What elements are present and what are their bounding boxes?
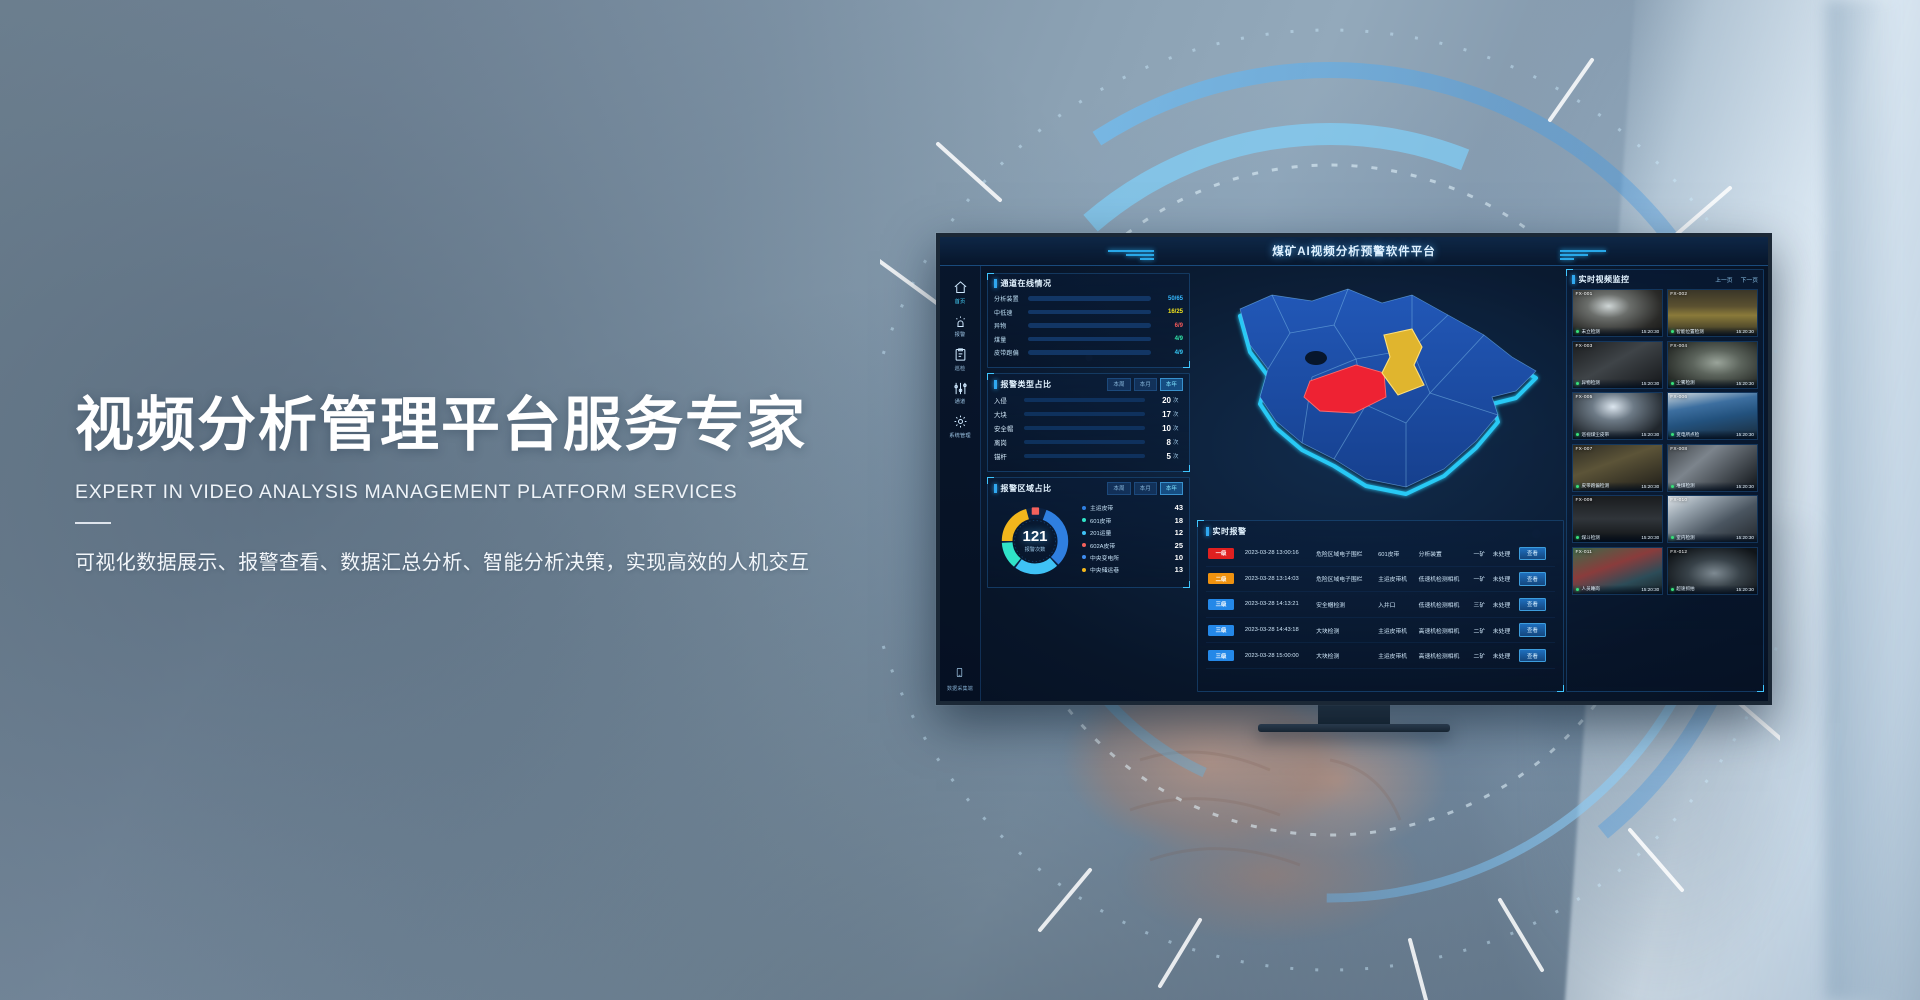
cell-time: 2023-03-28 14:43:18 (1243, 617, 1314, 643)
legend-item: 602A皮带 25 (1082, 541, 1183, 550)
cell-action: 查看 (1517, 566, 1555, 592)
video-name: 室内检测 (1671, 535, 1695, 541)
alarm-type-unit: 次 (1171, 410, 1183, 418)
alarm-type-label: 安全帽 (994, 424, 1024, 433)
donut-legend: 主运皮带 43 601皮带 18 201运量 12 (1082, 503, 1183, 577)
channel-row-track (1028, 296, 1151, 301)
video-name: 人员睡岗 (1576, 586, 1600, 592)
video-time: 15:20:30 (1641, 432, 1659, 437)
channel-row-value: 50/65 (1151, 296, 1183, 302)
legend-value: 13 (1165, 565, 1183, 574)
page-description: 可视化数据展示、报警查看、数据汇总分析、智能分析决策，实现高效的人机交互 (75, 546, 955, 575)
channel-row-track (1028, 337, 1151, 342)
status-dot (1576, 536, 1579, 539)
status-dot (1576, 485, 1579, 488)
channel-row-label: 皮带跑偏 (994, 348, 1028, 357)
channel-panel-title-text: 通道在线情况 (1001, 278, 1052, 289)
channel-row-value: 16/25 (1151, 309, 1183, 315)
sidebar-footer[interactable]: 数据采集端 (947, 665, 973, 693)
dashboard-sidebar: 首页 报警 巡检 通道 系统管理 (940, 266, 981, 701)
video-cell[interactable]: FX-009 煤斗检测 15:20:30 (1572, 495, 1663, 543)
status-dot (1671, 536, 1674, 539)
page-title: 视频分析管理平台服务专家 (75, 392, 955, 458)
cell-action: 查看 (1517, 643, 1555, 669)
divider-rule (75, 522, 111, 524)
channel-row-label: 中低速 (994, 308, 1028, 317)
video-caption: 变电所点检 15:20:30 (1668, 430, 1757, 439)
video-code: FX-007 (1576, 447, 1593, 452)
video-cell[interactable]: FX-004 尘雾检测 15:20:30 (1667, 341, 1758, 389)
cell-status: 未处理 (1491, 592, 1517, 618)
alarm-type-row: 入侵 20 次 (994, 396, 1183, 405)
alarm-type-row: 安全帽 10 次 (994, 424, 1183, 433)
legend-item: 中央储运巷 13 (1082, 565, 1183, 574)
dashboard-title: 煤矿AI视频分析预警软件平台 (1272, 243, 1436, 259)
alarm-type-label: 入侵 (994, 396, 1024, 405)
left-panel-column: 通道在线情况 分析装置 50/65 中低速 16/25 异物 6/9 煤量 (981, 269, 1195, 697)
donut-chart: 121 报警次数 (994, 500, 1076, 582)
video-name: 巡视煤尘皮带 (1576, 432, 1609, 438)
header-decoration-left (1108, 250, 1154, 260)
legend-name: 602A皮带 (1090, 541, 1165, 550)
cell-location: 主运皮带机 (1376, 643, 1417, 669)
video-caption: 尘雾检测 15:20:30 (1668, 379, 1757, 388)
donut-total: 121 (1022, 529, 1047, 544)
video-time: 15:20:30 (1641, 587, 1659, 592)
alarm-type-row: 大块 17 次 (994, 410, 1183, 419)
video-cell[interactable]: FX-001 未立检测 15:20:30 (1572, 289, 1663, 337)
cell-level: 三级 (1206, 592, 1243, 618)
video-caption: 超速抓拍 15:20:30 (1668, 585, 1757, 594)
cell-device: 高速机检测相机 (1417, 617, 1472, 643)
legend-dot (1082, 555, 1086, 559)
channel-online-panel: 通道在线情况 分析装置 50/65 中低速 16/25 异物 6/9 煤量 (987, 273, 1190, 368)
sidebar-item-home[interactable]: 首页 (940, 275, 981, 309)
cell-mine: 一矿 (1472, 566, 1491, 592)
view-button[interactable]: 查看 (1519, 649, 1546, 663)
legend-dot (1082, 531, 1086, 535)
video-cell[interactable]: FX-003 异物检测 15:20:30 (1572, 341, 1663, 389)
video-code: FX-012 (1670, 550, 1687, 555)
alarm-type-label: 大块 (994, 410, 1024, 419)
video-pagination: 上一页 下一页 (1715, 275, 1758, 284)
clipboard-check-icon (953, 347, 968, 362)
title-bar-accent (1206, 527, 1209, 536)
legend-name: 201运量 (1090, 528, 1165, 537)
alarm-type-track (1024, 440, 1145, 444)
video-time: 15:20:30 (1641, 381, 1659, 386)
legend-value: 43 (1165, 503, 1183, 512)
legend-name: 中央变电所 (1090, 553, 1165, 562)
tab-week[interactable]: 本周 (1107, 378, 1130, 391)
channel-row-value: 6/9 (1151, 323, 1183, 329)
video-caption: 巡视煤尘皮带 15:20:30 (1573, 430, 1662, 439)
status-badge: 三级 (1208, 625, 1234, 636)
status-dot (1576, 433, 1579, 436)
video-monitor-panel: 实时视频监控 上一页 下一页 FX-001 未立检测 15:20:30 (1566, 269, 1764, 692)
video-code: FX-002 (1670, 292, 1687, 297)
title-bar-accent (1572, 275, 1575, 284)
legend-value: 25 (1165, 541, 1183, 550)
realtime-alarm-title-text: 实时报警 (1213, 526, 1247, 537)
alarm-area-title-text: 报警区域占比 (1001, 483, 1052, 494)
legend-name: 中央储运巷 (1090, 565, 1165, 574)
alarm-type-count: 17 (1145, 410, 1171, 419)
sidebar-label-alarm: 报警 (955, 331, 966, 338)
donut-chart-body: 121 报警次数 主运皮带 43 601皮带 18 (994, 500, 1183, 582)
gear-icon (953, 414, 968, 429)
monitor-frame: 煤矿AI视频分析预警软件平台 首页 报警 巡检 (936, 233, 1772, 705)
legend-name: 主运皮带 (1090, 503, 1165, 512)
sliders-icon (953, 381, 968, 396)
cell-status: 未处理 (1491, 617, 1517, 643)
alarm-lamp-icon (953, 314, 968, 329)
cell-status: 未处理 (1491, 541, 1517, 566)
video-time: 15:20:30 (1736, 432, 1754, 437)
alarm-type-row: 锚杆 5 次 (994, 452, 1183, 461)
table-row[interactable]: 三级 2023-03-28 14:43:18 大块检测 主运皮带机 高速机检测相… (1206, 617, 1555, 643)
channel-row: 分析装置 50/65 (994, 294, 1183, 303)
alarm-type-track (1024, 454, 1145, 458)
monitor-stand-base (1258, 724, 1450, 732)
status-dot (1671, 588, 1674, 591)
cell-level: 三级 (1206, 643, 1243, 669)
cell-mine: 一矿 (1472, 541, 1491, 566)
legend-item: 中央变电所 10 (1082, 553, 1183, 562)
channel-row: 皮带跑偏 4/9 (994, 348, 1183, 357)
video-code: FX-011 (1576, 550, 1593, 555)
legend-value: 12 (1165, 528, 1183, 537)
cell-status: 未处理 (1491, 566, 1517, 592)
alarm-type-track (1024, 398, 1145, 402)
alarm-type-unit: 次 (1171, 396, 1183, 404)
cell-mine: 二矿 (1472, 617, 1491, 643)
donut-center-label: 121 报警次数 (1022, 529, 1047, 553)
cell-mine: 二矿 (1472, 643, 1491, 669)
sidebar-label-home: 首页 (955, 298, 966, 305)
dashboard-screen: 煤矿AI视频分析预警软件平台 首页 报警 巡检 (940, 237, 1768, 701)
channel-panel-title: 通道在线情况 (994, 278, 1052, 289)
video-monitor-title-text: 实时视频监控 (1579, 274, 1630, 285)
title-bar-accent (994, 484, 997, 493)
video-name: 尘雾检测 (1671, 380, 1695, 386)
cell-time: 2023-03-28 13:00:16 (1243, 541, 1314, 566)
status-badge: 三级 (1208, 599, 1234, 610)
legend-dot (1082, 568, 1086, 572)
right-panel-column: 实时视频监控 上一页 下一页 FX-001 未立检测 15:20:30 (1566, 269, 1764, 697)
view-button[interactable]: 查看 (1519, 598, 1546, 612)
video-code: FX-009 (1576, 498, 1593, 503)
channel-row: 中低速 16/25 (994, 308, 1183, 317)
video-cell[interactable]: FX-006 变电所点检 15:20:30 (1667, 392, 1758, 440)
sidebar-label-system: 系统管理 (949, 432, 971, 439)
channel-row-label: 异物 (994, 321, 1028, 330)
cell-type: 大块检测 (1314, 643, 1376, 669)
alarm-type-panel: 报警类型占比 本周 本月 本年 入侵 20 次 大块 17 次 (987, 373, 1190, 472)
title-bar-accent (994, 279, 997, 288)
cell-device: 低速机检测相机 (1417, 566, 1472, 592)
cell-time: 2023-03-28 13:14:03 (1243, 566, 1314, 592)
alarm-area-tabs: 本周 本月 本年 (1107, 482, 1183, 495)
video-code: FX-008 (1670, 447, 1687, 452)
province-map[interactable] (1216, 273, 1546, 501)
status-badge: 一级 (1208, 548, 1234, 559)
status-dot (1576, 382, 1579, 385)
cell-status: 未处理 (1491, 643, 1517, 669)
video-grid: FX-001 未立检测 15:20:30 FX-002 智能位置检测 15:20… (1572, 289, 1758, 595)
next-page-button[interactable]: 下一页 (1741, 275, 1758, 284)
video-time: 15:20:30 (1736, 381, 1754, 386)
device-icon (954, 665, 965, 683)
donut-caption: 报警次数 (1022, 546, 1047, 553)
alarm-type-panel-title: 报警类型占比 (994, 379, 1052, 390)
video-name: 变电所点检 (1671, 432, 1699, 438)
channel-row: 异物 6/9 (994, 321, 1183, 330)
cell-action: 查看 (1517, 592, 1555, 618)
cell-time: 2023-03-28 14:13:21 (1243, 592, 1314, 618)
channel-row-track (1028, 350, 1151, 355)
video-cell[interactable]: FX-007 皮带跑偏检测 15:20:30 (1572, 444, 1663, 492)
video-code: FX-003 (1576, 344, 1593, 349)
status-dot (1671, 433, 1674, 436)
status-dot (1576, 330, 1579, 333)
realtime-alarm-title: 实时报警 (1206, 526, 1247, 537)
cell-device: 高速机检测相机 (1417, 643, 1472, 669)
tab-week[interactable]: 本周 (1107, 482, 1130, 495)
alarm-type-count: 8 (1145, 438, 1171, 447)
table-row[interactable]: 一级 2023-03-28 13:00:16 危险区域电子围栏 601皮带 分析… (1206, 541, 1555, 566)
dashboard-header: 煤矿AI视频分析预警软件平台 (940, 237, 1768, 266)
legend-dot (1082, 543, 1086, 547)
video-code: FX-010 (1670, 498, 1687, 503)
alarm-type-panel-head: 报警类型占比 本周 本月 本年 (994, 378, 1183, 391)
tab-month[interactable]: 本月 (1134, 378, 1157, 391)
legend-item: 601皮带 18 (1082, 516, 1183, 525)
table-row[interactable]: 二级 2023-03-28 13:14:03 危险区域电子围栏 主运皮带机 低速… (1206, 566, 1555, 592)
legend-value: 10 (1165, 553, 1183, 562)
tab-year[interactable]: 本年 (1160, 482, 1183, 495)
video-name: 异物检测 (1576, 380, 1600, 386)
alarm-area-panel: 报警区域占比 本周 本月 本年 (987, 477, 1190, 588)
table-row[interactable]: 三级 2023-03-28 14:13:21 安全帽检测 入井口 低速机检测相机… (1206, 592, 1555, 618)
alarm-type-title-text: 报警类型占比 (1001, 379, 1052, 390)
page-subtitle: EXPERT IN VIDEO ANALYSIS MANAGEMENT PLAT… (75, 481, 955, 504)
legend-name: 601皮带 (1090, 516, 1165, 525)
alarm-type-track (1024, 426, 1145, 430)
cell-device: 分析装置 (1417, 541, 1472, 566)
video-caption: 煤斗检测 15:20:30 (1573, 533, 1662, 542)
video-cell[interactable]: FX-008 堆煤检测 15:20:30 (1667, 444, 1758, 492)
video-caption: 未立检测 15:20:30 (1573, 327, 1662, 336)
legend-item: 201运量 12 (1082, 528, 1183, 537)
video-name: 煤斗检测 (1576, 535, 1600, 541)
channel-row-label: 分析装置 (994, 294, 1028, 303)
status-dot (1671, 485, 1674, 488)
video-name: 皮带跑偏检测 (1576, 483, 1609, 489)
cell-type: 大块检测 (1314, 617, 1376, 643)
status-dot (1671, 382, 1674, 385)
video-cell[interactable]: FX-010 室内检测 15:20:30 (1667, 495, 1758, 543)
channel-row-track (1028, 310, 1151, 315)
cell-location: 601皮带 (1376, 541, 1417, 566)
status-badge: 三级 (1208, 650, 1234, 661)
view-button[interactable]: 查看 (1519, 547, 1546, 561)
video-caption: 异物检测 15:20:30 (1573, 379, 1662, 388)
sidebar-footer-label: 数据采集端 (947, 685, 973, 692)
view-button[interactable]: 查看 (1519, 572, 1546, 586)
video-cell[interactable]: FX-002 智能位置检测 15:20:30 (1667, 289, 1758, 337)
video-time: 15:20:30 (1641, 535, 1659, 540)
alarm-type-unit: 次 (1171, 452, 1183, 460)
alarm-type-count: 20 (1145, 396, 1171, 405)
video-monitor-head: 实时视频监控 上一页 下一页 (1572, 274, 1758, 285)
video-monitor-title: 实时视频监控 (1572, 274, 1630, 285)
title-bar-accent (994, 380, 997, 389)
alarm-type-row: 离岗 8 次 (994, 438, 1183, 447)
home-icon (953, 280, 968, 295)
cell-level: 一级 (1206, 541, 1243, 566)
alarm-type-track (1024, 412, 1145, 416)
alarm-type-count: 5 (1145, 452, 1171, 461)
view-button[interactable]: 查看 (1519, 623, 1546, 637)
sidebar-item-channel[interactable]: 通道 (940, 376, 981, 410)
status-dot (1576, 588, 1579, 591)
alarm-area-panel-head: 报警区域占比 本周 本月 本年 (994, 482, 1183, 495)
cell-action: 查看 (1517, 541, 1555, 566)
alarm-type-label: 锚杆 (994, 452, 1024, 461)
cell-type: 安全帽检测 (1314, 592, 1376, 618)
cell-time: 2023-03-28 15:00:00 (1243, 643, 1314, 669)
video-code: FX-006 (1670, 395, 1687, 400)
video-caption: 皮带跑偏检测 15:20:30 (1573, 482, 1662, 491)
cell-type: 危险区域电子围栏 (1314, 566, 1376, 592)
alarm-type-tabs: 本周 本月 本年 (1107, 378, 1183, 391)
cell-type: 危险区域电子围栏 (1314, 541, 1376, 566)
map-area (1197, 269, 1564, 537)
legend-value: 18 (1165, 516, 1183, 525)
video-time: 15:20:30 (1641, 484, 1659, 489)
realtime-alarm-head: 实时报警 (1206, 526, 1555, 537)
alarm-type-count: 10 (1145, 424, 1171, 433)
video-code: FX-004 (1670, 344, 1687, 349)
legend-dot (1082, 518, 1086, 522)
video-time: 15:20:30 (1736, 484, 1754, 489)
video-cell[interactable]: FX-011 人员睡岗 15:20:30 (1572, 547, 1663, 595)
realtime-alarm-table: 一级 2023-03-28 13:00:16 危险区域电子围栏 601皮带 分析… (1206, 541, 1555, 669)
sidebar-label-channel: 通道 (955, 398, 966, 405)
alarm-type-label: 离岗 (994, 438, 1024, 447)
legend-item: 主运皮带 43 (1082, 503, 1183, 512)
channel-row-label: 煤量 (994, 335, 1028, 344)
video-code: FX-005 (1576, 395, 1593, 400)
cell-level: 三级 (1206, 617, 1243, 643)
hero-text-block: 视频分析管理平台服务专家 EXPERT IN VIDEO ANALYSIS MA… (75, 392, 955, 575)
legend-dot (1082, 506, 1086, 510)
alarm-type-unit: 次 (1171, 438, 1183, 446)
channel-row: 煤量 4/9 (994, 335, 1183, 344)
cell-location: 主运皮带机 (1376, 566, 1417, 592)
cell-action: 查看 (1517, 617, 1555, 643)
video-time: 15:20:30 (1641, 329, 1659, 334)
video-time: 15:20:30 (1736, 587, 1754, 592)
video-code: FX-001 (1576, 292, 1593, 297)
realtime-alarm-panel: 实时报警 一级 2023-03-28 13:00:16 危险区域电子围栏 601… (1197, 520, 1564, 692)
sidebar-label-inspection: 巡检 (955, 365, 966, 372)
sidebar-item-system[interactable]: 系统管理 (940, 409, 981, 443)
video-name: 堆煤检测 (1671, 483, 1695, 489)
header-decoration-right (1560, 250, 1606, 260)
video-name: 智能位置检测 (1671, 329, 1704, 335)
cell-mine: 三矿 (1472, 592, 1491, 618)
alarm-area-panel-title: 报警区域占比 (994, 483, 1052, 494)
sidebar-item-alarm[interactable]: 报警 (940, 309, 981, 343)
channel-row-value: 4/9 (1151, 350, 1183, 356)
cell-location: 入井口 (1376, 592, 1417, 618)
status-dot (1671, 330, 1674, 333)
video-caption: 堆煤检测 15:20:30 (1668, 482, 1757, 491)
tab-year[interactable]: 本年 (1160, 378, 1183, 391)
status-badge: 二级 (1208, 573, 1234, 584)
tab-month[interactable]: 本月 (1134, 482, 1157, 495)
video-name: 未立检测 (1576, 329, 1600, 335)
cell-location: 主运皮带机 (1376, 617, 1417, 643)
table-row[interactable]: 三级 2023-03-28 15:00:00 大块检测 主运皮带机 高速机检测相… (1206, 643, 1555, 669)
video-name: 超速抓拍 (1671, 586, 1695, 592)
channel-row-value: 4/9 (1151, 336, 1183, 342)
center-column: 实时报警 一级 2023-03-28 13:00:16 危险区域电子围栏 601… (1197, 269, 1564, 697)
video-time: 15:20:30 (1736, 329, 1754, 334)
video-time: 15:20:30 (1736, 535, 1754, 540)
video-cell[interactable]: FX-005 巡视煤尘皮带 15:20:30 (1572, 392, 1663, 440)
video-caption: 智能位置检测 15:20:30 (1668, 327, 1757, 336)
video-cell[interactable]: FX-012 超速抓拍 15:20:30 (1667, 547, 1758, 595)
channel-panel-head: 通道在线情况 (994, 278, 1183, 289)
channel-row-track (1028, 323, 1151, 328)
cell-device: 低速机检测相机 (1417, 592, 1472, 618)
sidebar-item-inspection[interactable]: 巡检 (940, 342, 981, 376)
prev-page-button[interactable]: 上一页 (1715, 275, 1732, 284)
video-caption: 人员睡岗 15:20:30 (1573, 585, 1662, 594)
cell-level: 二级 (1206, 566, 1243, 592)
video-caption: 室内检测 15:20:30 (1668, 533, 1757, 542)
alarm-type-unit: 次 (1171, 424, 1183, 432)
